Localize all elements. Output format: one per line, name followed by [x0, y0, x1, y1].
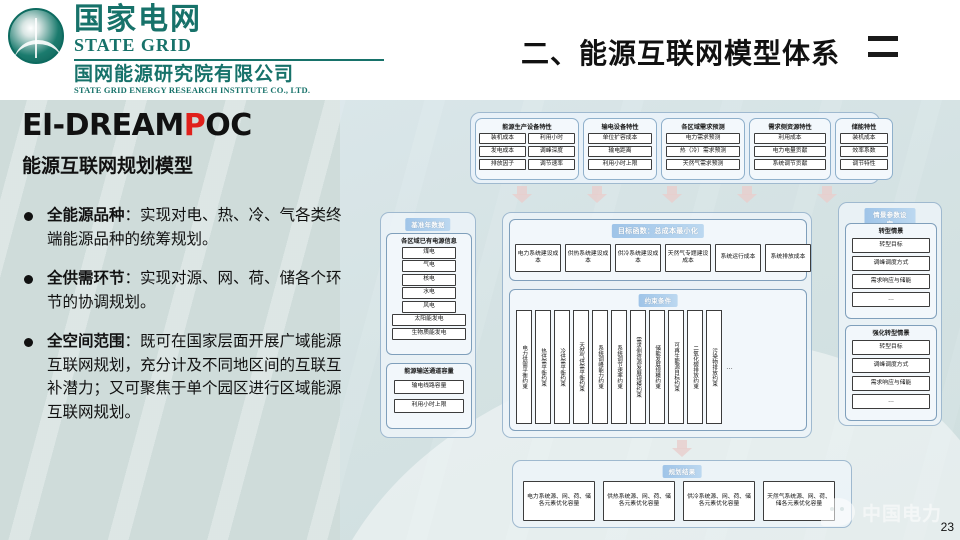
flow-arrow-down-icon: [817, 186, 837, 203]
baseline-title: 基准年数据: [405, 218, 450, 231]
objective-cell: 系统运行成本: [715, 244, 761, 272]
scenario-cell: …: [852, 394, 930, 409]
wechat-watermark: 中国电力: [821, 498, 942, 526]
left-text-column: EI-DREAMPOC 能源互联网规划模型 全能源品种：实现对电、热、冷、气各类…: [22, 108, 352, 440]
model-architecture-diagram: 能源生产设备特性装机成本利用小时发电成本调峰深度排放因子调节速率输电设备特性单位…: [372, 108, 952, 532]
institute-name-en: STATE GRID ENERGY RESEARCH INSTITUTE CO.…: [74, 85, 384, 95]
input-cell: 调节特性: [840, 159, 888, 170]
input-group-4: 储能特性装机成本效率系数调节特性: [835, 118, 893, 180]
input-cell: 热（冷）需求预测: [666, 146, 740, 157]
result-title: 规划结果: [663, 465, 702, 478]
scenario-cell: 调峰调度方式: [852, 256, 930, 271]
scenario-group-title: 转型情景: [846, 226, 936, 235]
input-cell: 发电成本: [479, 146, 526, 157]
bullet-term: 全供需环节: [47, 269, 125, 287]
constraint-cell: 储能发展规模约束: [649, 310, 665, 424]
bullet-dot-icon: [24, 275, 33, 284]
brand-pre: EI-DREAM: [22, 108, 184, 143]
input-cell: 单位扩容成本: [588, 133, 652, 144]
input-cell: 调峰深度: [528, 146, 575, 157]
org-name-en: STATE GRID: [74, 36, 384, 55]
input-cell-grid: 单位扩容成本输电距离利用小时上限: [584, 133, 656, 170]
constraint-cell: 二氧化碳排放约束: [687, 310, 703, 424]
state-grid-emblem-icon: [8, 8, 64, 64]
scenario-parameters-panel: 情景参数设定转型情景转型目标调峰调度方式需求响应与储能…强化转型情景转型目标调峰…: [838, 202, 942, 426]
bullet-dot-icon: [24, 212, 33, 221]
constraints-cell-row: 电力供需平衡约束热供需平衡约束冷供需平衡约束天然气供需平衡约束系统调峰能力约束系…: [516, 310, 733, 424]
input-cell: 效率系数: [840, 146, 888, 157]
model-subtitle: 能源互联网规划模型: [22, 151, 352, 178]
input-cell: 装机成本: [840, 133, 888, 144]
scenario-cell: 转型目标: [852, 340, 930, 355]
objective-title: 目标函数：总成本最小化: [612, 224, 704, 238]
input-group-title: 储能特性: [836, 122, 892, 131]
objective-cell-row: 电力系统建设成本供热系统建设成本供冷系统建设成本天然气专题建设成本系统运行成本系…: [515, 244, 811, 272]
input-cell: 电力电量贡献: [754, 146, 826, 157]
constraint-cell: 系统调节速率约束: [611, 310, 627, 424]
constraints-title: 约束条件: [639, 294, 678, 307]
baseline-cell: 煤电: [402, 247, 456, 259]
constraint-cell: 热供需平衡约束: [535, 310, 551, 424]
result-cell: 供冷系统源、网、荷、储各元素优化容量: [683, 481, 755, 521]
page-number: 23: [941, 520, 954, 534]
objective-cell: 供冷系统建设成本: [615, 244, 661, 272]
scenario-group-0: 转型情景转型目标调峰调度方式需求响应与储能…: [845, 223, 937, 319]
input-cell-grid: 利用成本电力电量贡献系统调节贡献: [750, 133, 830, 170]
scenario-cell: 需求响应与储能: [852, 376, 930, 391]
baseline-cell: 利用小时上限: [394, 399, 464, 413]
flow-arrow-down-icon: [587, 186, 607, 203]
objective-cell: 电力系统建设成本: [515, 244, 561, 272]
constraint-cell: 污染物排放约束: [706, 310, 722, 424]
constraint-cell: 需求侧资源发展规模约束: [630, 310, 646, 424]
input-cell-grid: 装机成本效率系数调节特性: [836, 133, 892, 170]
input-group-title: 需求侧资源特性: [750, 122, 830, 131]
input-cell: 利用成本: [754, 133, 826, 144]
input-cell-grid: 装机成本利用小时发电成本调峰深度排放因子调节速率: [476, 133, 578, 170]
flow-arrow-down-icon: [672, 440, 692, 457]
input-group-title: 输电设备特性: [584, 122, 656, 131]
logo-divider: [74, 59, 384, 61]
flow-arrow-down-icon: [737, 186, 757, 203]
objective-cell: 系统排放成本: [765, 244, 811, 272]
list-item: 全供需环节：实现对源、网、荷、储各个环节的协调规划。: [22, 267, 352, 314]
bullet-list: 全能源品种：实现对电、热、冷、气各类终端能源品种的统筹规划。 全供需环节：实现对…: [22, 204, 352, 424]
input-cell: 输电距离: [588, 146, 652, 157]
baseline-cell: 核电: [402, 274, 456, 286]
slide-header: 国家电网 STATE GRID 国网能源研究院有限公司 STATE GRID E…: [0, 0, 960, 100]
slide-body: EI-DREAMPOC 能源互联网规划模型 全能源品种：实现对电、热、冷、气各类…: [0, 100, 960, 540]
input-cell: 装机成本: [479, 133, 526, 144]
planning-result-panel: 规划结果电力系统源、网、荷、储各元素优化容量供热系统源、网、荷、储各元素优化容量…: [512, 460, 852, 528]
scenario-cell: 需求响应与储能: [852, 274, 930, 289]
constraint-cell: 可再生能源目标约束: [668, 310, 684, 424]
brand-post: OC: [205, 108, 252, 143]
objective-constraints-panel: 目标函数：总成本最小化电力系统建设成本供热系统建设成本供冷系统建设成本天然气专题…: [502, 212, 812, 438]
input-cell: 排放因子: [479, 159, 526, 170]
flow-arrow-down-icon: [662, 186, 682, 203]
input-cell: 利用小时: [528, 133, 575, 144]
bullet-term: 全空间范围: [47, 332, 125, 350]
input-group-title: 能源生产设备特性: [476, 122, 578, 131]
page-title: 二、能源互联网模型体系: [521, 32, 840, 72]
constraints-ellipsis: …: [726, 364, 733, 371]
brand-red-letter: P: [184, 108, 206, 143]
result-cell-row: 电力系统源、网、荷、储各元素优化容量供热系统源、网、荷、储各元素优化容量供冷系统…: [523, 481, 835, 521]
baseline-cell: 输电线路容量: [394, 380, 464, 394]
input-cell: 系统调节贡献: [754, 159, 826, 170]
baseline-cell: 生物质能发电: [392, 328, 466, 340]
bullet-dot-icon: [24, 338, 33, 347]
baseline-group-title: 各区域已有电源信息: [387, 236, 471, 245]
baseline-cell: 太阳能发电: [392, 314, 466, 326]
baseline-cell: 风电: [402, 301, 456, 313]
input-cell: 电力需求预测: [666, 133, 740, 144]
baseline-group-title: 能源输送通道容量: [387, 366, 471, 375]
watermark-label: 中国电力: [862, 499, 942, 526]
title-bars-decoration: [868, 36, 898, 68]
list-item: 全空间范围：既可在国家层面开展广域能源互联网规划，充分计及不同地区间的互联互补潜…: [22, 330, 352, 424]
input-cell: 利用小时上限: [588, 159, 652, 170]
objective-group: 目标函数：总成本最小化电力系统建设成本供热系统建设成本供冷系统建设成本天然气专题…: [509, 219, 807, 281]
input-cell: 天然气需求预测: [666, 159, 740, 170]
bullet-term: 全能源品种: [47, 206, 125, 224]
input-cell: 调节速率: [528, 159, 575, 170]
result-cell: 电力系统源、网、荷、储各元素优化容量: [523, 481, 595, 521]
scenario-cell: …: [852, 292, 930, 307]
scenario-group-title: 强化转型情景: [846, 328, 936, 337]
constraint-cell: 电力供需平衡约束: [516, 310, 532, 424]
input-parameters-row: 能源生产设备特性装机成本利用小时发电成本调峰深度排放因子调节速率输电设备特性单位…: [470, 112, 880, 184]
baseline-cell: 水电: [402, 287, 456, 299]
result-cell: 供热系统源、网、荷、储各元素优化容量: [603, 481, 675, 521]
baseline-data-panel: 基准年数据各区域已有电源信息煤电气电核电水电风电太阳能发电生物质能发电能源输送通…: [380, 212, 476, 438]
input-group-title: 各区域需求预测: [662, 122, 744, 131]
input-group-3: 需求侧资源特性利用成本电力电量贡献系统调节贡献: [749, 118, 831, 180]
list-item: 全能源品种：实现对电、热、冷、气各类终端能源品种的统筹规划。: [22, 204, 352, 251]
baseline-group-transmission: 能源输送通道容量输电线路容量利用小时上限: [386, 363, 472, 429]
objective-cell: 天然气专题建设成本: [665, 244, 711, 272]
wechat-icon: [821, 498, 855, 526]
institute-name-cn: 国网能源研究院有限公司: [74, 64, 384, 85]
scenario-cell: 调峰调度方式: [852, 358, 930, 373]
input-group-1: 输电设备特性单位扩容成本输电距离利用小时上限: [583, 118, 657, 180]
input-group-0: 能源生产设备特性装机成本利用小时发电成本调峰深度排放因子调节速率: [475, 118, 579, 180]
scenario-cell: 转型目标: [852, 238, 930, 253]
model-brand-name: EI-DREAMPOC: [22, 108, 352, 143]
org-name-cn: 国家电网: [74, 4, 384, 36]
flow-arrow-down-icon: [512, 186, 532, 203]
scenario-group-1: 强化转型情景转型目标调峰调度方式需求响应与储能…: [845, 325, 937, 421]
baseline-cell: 气电: [402, 260, 456, 272]
baseline-group-existing: 各区域已有电源信息煤电气电核电水电风电太阳能发电生物质能发电: [386, 233, 472, 355]
input-cell-grid: 电力需求预测热（冷）需求预测天然气需求预测: [662, 133, 744, 170]
constraint-cell: 冷供需平衡约束: [554, 310, 570, 424]
constraint-cell: 系统调峰能力约束: [592, 310, 608, 424]
state-grid-logo: 国家电网 STATE GRID 国网能源研究院有限公司 STATE GRID E…: [8, 4, 384, 95]
constraint-cell: 天然气供需平衡约束: [573, 310, 589, 424]
constraints-group: 约束条件电力供需平衡约束热供需平衡约束冷供需平衡约束天然气供需平衡约束系统调峰能…: [509, 289, 807, 431]
input-group-2: 各区域需求预测电力需求预测热（冷）需求预测天然气需求预测: [661, 118, 745, 180]
objective-cell: 供热系统建设成本: [565, 244, 611, 272]
